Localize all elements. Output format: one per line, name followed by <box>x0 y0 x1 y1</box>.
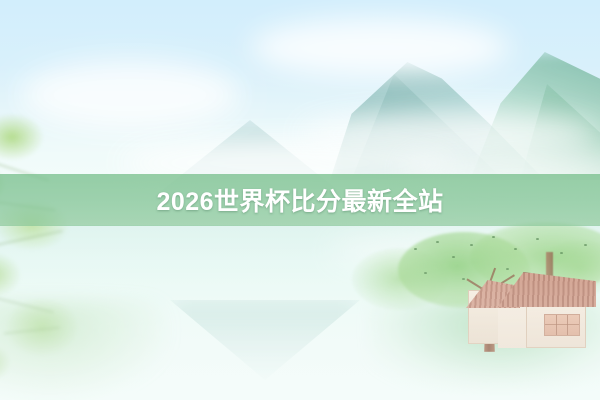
window-mullion <box>545 324 579 325</box>
house-roof-main <box>498 272 596 307</box>
leaf-speck <box>414 248 417 250</box>
leaf-speck <box>452 256 455 258</box>
branch-twig <box>0 230 63 246</box>
leaf-speck <box>514 248 517 250</box>
leaf-speck <box>536 238 539 240</box>
leaf-speck <box>436 241 439 243</box>
leaf-speck <box>492 236 495 238</box>
left-bank-grass <box>0 300 170 400</box>
leaf-speck <box>470 244 473 246</box>
leaf-speck <box>560 252 563 254</box>
cloud-haze-top <box>250 18 510 78</box>
house-illustration <box>466 272 596 356</box>
window-mullion <box>567 315 568 335</box>
banner-title-text: 2026世界杯比分最新全站 <box>156 182 443 218</box>
leaf-speck <box>424 272 427 274</box>
house-window <box>544 314 580 336</box>
leaf-speck <box>506 268 509 270</box>
title-banner-bar: 2026世界杯比分最新全站 <box>0 174 600 226</box>
landscape-banner-image: 2026世界杯比分最新全站 <box>0 0 600 400</box>
leaf-speck <box>584 244 587 246</box>
leaf-speck <box>462 278 465 280</box>
window-mullion <box>556 315 557 335</box>
